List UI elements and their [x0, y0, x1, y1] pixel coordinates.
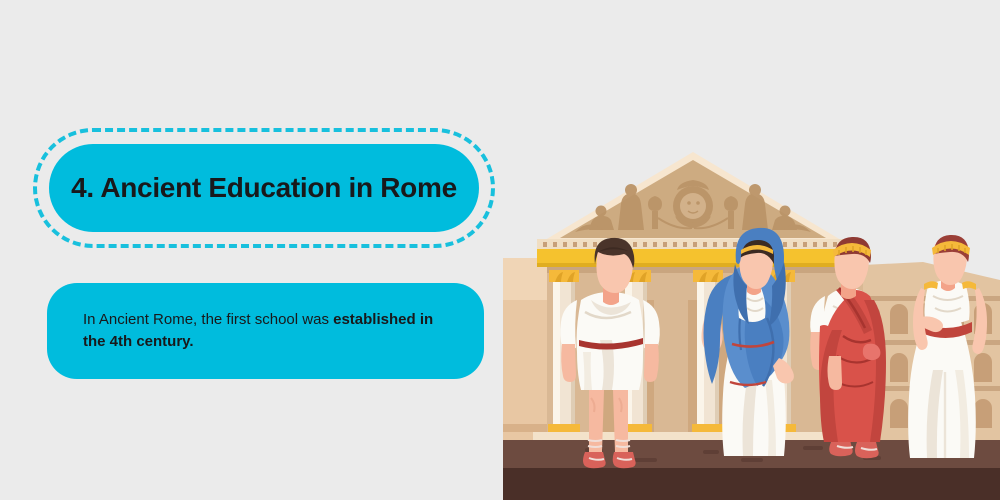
title-badge: 4. Ancient Education in Rome [49, 144, 479, 232]
fact-card: In Ancient Rome, the first school was es… [47, 283, 484, 379]
page-title: 4. Ancient Education in Rome [71, 172, 457, 204]
fact-text-lead: In Ancient Rome, the first school was [83, 311, 333, 328]
title-badge-dashed-frame: 4. Ancient Education in Rome [33, 128, 495, 248]
ancient-rome-illustration [503, 0, 1000, 500]
fact-card-text: In Ancient Rome, the first school was es… [47, 309, 484, 354]
